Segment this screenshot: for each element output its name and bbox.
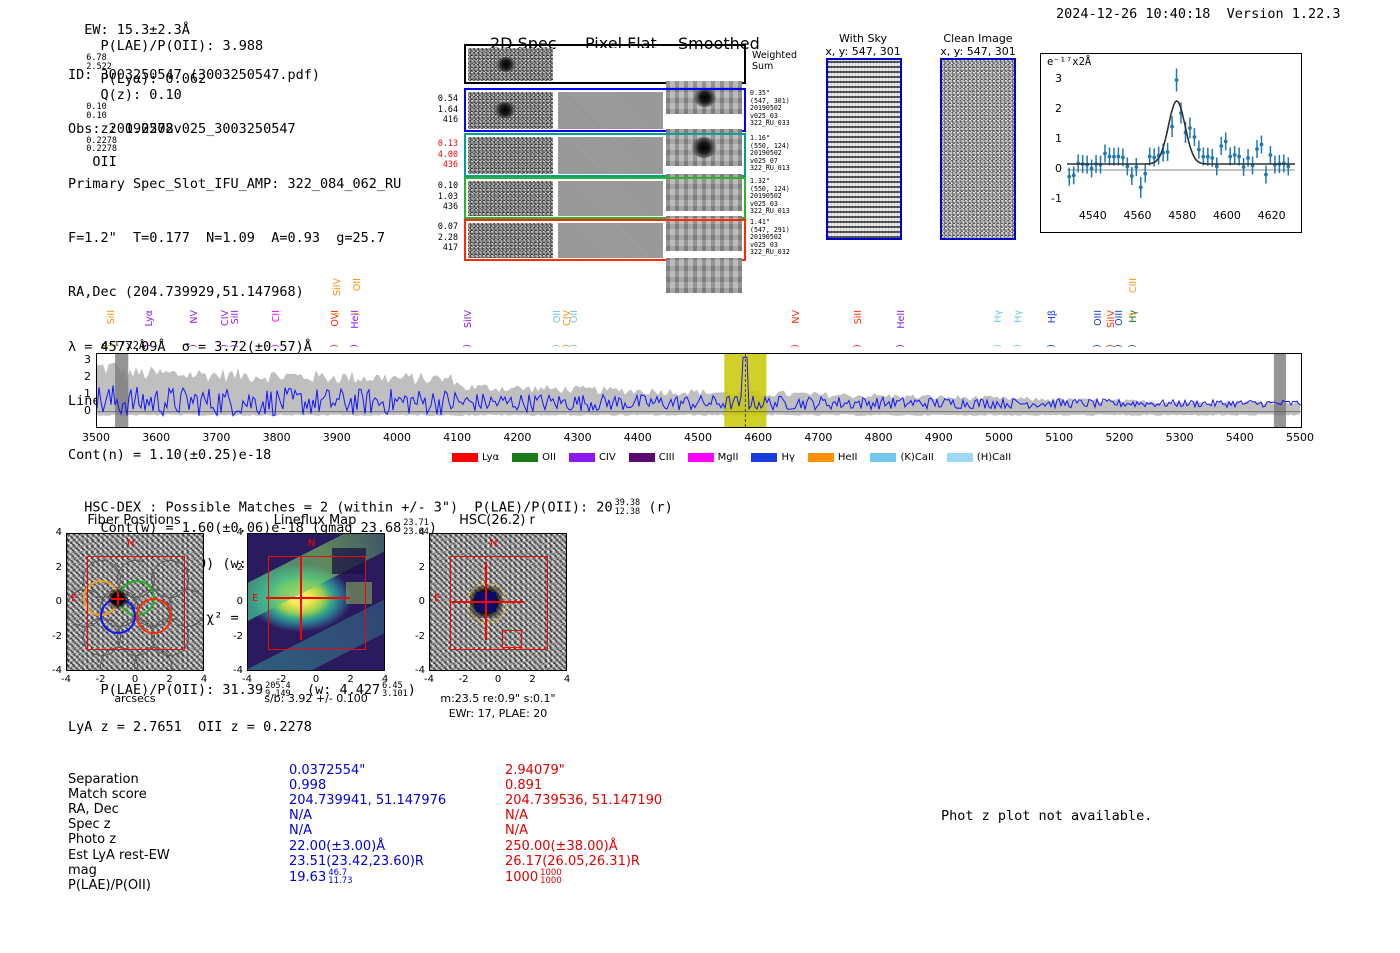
table-cell-red: 26.17(26.05,26.31)R [505, 854, 640, 869]
cutout-xtick: -2 [452, 674, 476, 685]
compass-e: E [434, 593, 440, 604]
cutout-ytick: -4 [409, 665, 425, 676]
legend-label-CIII: CIII [659, 452, 675, 463]
emission-xtick: 4620 [1256, 209, 1288, 222]
legend-swatch-Hγ [751, 453, 777, 462]
legend-label-Hγ: Hγ [781, 452, 794, 463]
spectrum-line-label: OIII [1114, 310, 1125, 326]
legend-item: Hγ [751, 452, 794, 463]
cutout-ytick: 4 [409, 527, 425, 538]
table-row-label: Spec z [68, 817, 111, 832]
table-cell-red: N/A [505, 823, 528, 838]
spectrum-line-brace: ( [1125, 344, 1135, 348]
spectrum-line-label: SiII [853, 310, 864, 324]
emission-ytick: 3 [1048, 72, 1062, 85]
table-row-label: Photo z [68, 832, 116, 847]
cutout-xtick: 2 [521, 674, 545, 685]
spec-row-1 [464, 133, 746, 177]
table-row-label: RA, Dec [68, 802, 119, 817]
spectrum-line-label: HeII [896, 310, 907, 329]
spectrum-xtick: 3500 [70, 431, 122, 444]
cutout-xtick: 0 [304, 674, 328, 685]
plae-blue-frac: 46.711.73 [328, 869, 352, 886]
spectrum-xtick: 4800 [853, 431, 905, 444]
cutout-caption-ewr-plae: EWr: 17, PLAE: 20 [419, 707, 577, 720]
cutout-caption-arcsecs: arcsecs [66, 692, 204, 705]
legend-swatch-MgII [688, 453, 714, 462]
table-cell-blue: 0.998 [289, 778, 326, 793]
clean-image-xy: x, y: 547, 301 [923, 45, 1033, 58]
emission-ytick: 0 [1048, 162, 1062, 175]
spectrum-xtick: 3600 [130, 431, 182, 444]
table-row-label: Separation [68, 772, 139, 787]
spectrum-line-brace: ( [1125, 312, 1135, 316]
cutout-ytick: -2 [409, 631, 425, 642]
info-seeing: F=1.2" T=0.177 N=1.09 A=0.93 g=25.7 [68, 229, 437, 247]
legend-item: OII [512, 452, 556, 463]
spectrum-xtick: 4700 [792, 431, 844, 444]
spectrum-xtick: 5100 [1033, 431, 1085, 444]
compass-n: N [490, 538, 497, 549]
info-id: ID: 3003250547 (3003250547.pdf) [68, 66, 437, 84]
spectrum-line-label: Hγ [1013, 310, 1024, 323]
row-2-pixelflat [558, 181, 663, 216]
table-cell-blue: 0.0372554" [289, 763, 365, 778]
table-cell-red: N/A [505, 808, 528, 823]
compass-n: N [308, 538, 315, 549]
spectrum-ytick: 0 [78, 404, 91, 417]
row-0-pixelflat [558, 92, 663, 129]
spec-row-3 [464, 219, 746, 261]
spectrum-line-label: OIII [1093, 310, 1104, 326]
table-row-label-plae: P(LAE)/P(OII) [68, 878, 151, 893]
spectrum-xtick: 4200 [491, 431, 543, 444]
table-row-label: mag [68, 863, 97, 878]
emission-ytick: -1 [1048, 192, 1062, 205]
info-obs: Obs: 20190502v025_3003250547 [68, 120, 437, 138]
cutout-ytick: 0 [46, 596, 62, 607]
table-cell-red: 2.94079" [505, 763, 565, 778]
legend-label-Lyα: Lyα [482, 452, 499, 463]
spectrum-line-brace: ( [218, 344, 228, 348]
cutout-ytick: 2 [409, 562, 425, 573]
cutout-title-lineflux-map: Lineflux Map [245, 513, 385, 528]
legend-label-(K)CaII: (K)CaII [900, 452, 933, 463]
spectrum-units: e⁻¹⁷x2Å [101, 340, 145, 352]
spectrum-legend: LyαOIICIVCIIIMgIIHγHeII(K)CaII(H)CaII [452, 447, 1024, 466]
weighted-sum-row [464, 44, 746, 84]
row-2-2dspec [468, 181, 553, 216]
emission-line-units: e⁻¹⁷x2Å [1047, 56, 1091, 68]
cutout-xtick: 0 [123, 674, 147, 685]
compass-e: E [252, 593, 258, 604]
fov-box [450, 556, 548, 650]
weighted-sum-pixelflat [558, 48, 663, 81]
spec-row-2 [464, 177, 746, 219]
legend-swatch-(K)CaII [870, 453, 896, 462]
table-cell-blue: 204.739941, 51.147976 [289, 793, 446, 808]
fov-box [87, 556, 185, 650]
spectrum-line-label: CIII [1128, 278, 1139, 293]
spectrum-line-brace: ( [187, 344, 197, 348]
cutout-xtick: 4 [373, 674, 397, 685]
emission-line-svg [1041, 54, 1301, 232]
plae-red-lo: 1000 [540, 877, 562, 886]
spectrum-line-label: SiIV [463, 310, 474, 328]
spectrum-xtick: 3900 [311, 431, 363, 444]
row-1-side-label: 1.16" (550, 124) 20190502 v025_07 322_RU… [750, 135, 790, 173]
table-cell-blue: N/A [289, 823, 312, 838]
emission-line-plot [1040, 53, 1302, 233]
spectrum-line-brace: ( [567, 344, 577, 348]
table-row-label: Match score [68, 787, 147, 802]
table-cell-red-plae: 100010001000 [505, 869, 562, 886]
spectrum-line-label: NV [189, 310, 200, 324]
table-cell-blue: N/A [289, 808, 312, 823]
fiber-positions-image[interactable]: N E [66, 533, 204, 671]
spectrum-xtick: 3700 [190, 431, 242, 444]
spectrum-xtick: 5000 [973, 431, 1025, 444]
with-sky-xy: x, y: 547, 301 [808, 45, 918, 58]
spectrum-xtick: 4000 [371, 431, 423, 444]
weighted-sum-2dspec [468, 48, 553, 81]
cutout-xtick: -2 [270, 674, 294, 685]
emission-xtick: 4540 [1077, 209, 1109, 222]
spectrum-line-brace: ( [269, 344, 279, 348]
emission-xtick: 4600 [1211, 209, 1243, 222]
row-1-numbers: 0.13 4.00 436 [418, 138, 458, 170]
spectrum-line-label: SiII [230, 310, 241, 324]
spectrum-xtick: 4400 [612, 431, 664, 444]
full-spectrum-svg [97, 354, 1301, 427]
spectrum-line-brace: ( [328, 344, 338, 348]
spectrum-line-label: OII [352, 278, 363, 291]
clean-image [940, 58, 1016, 240]
spectrum-line-label: SiIV [332, 278, 343, 296]
legend-label-MgII: MgII [718, 452, 739, 463]
legend-item: CIII [629, 452, 675, 463]
cutout-ytick: 2 [46, 562, 62, 573]
cutout-xtick: 4 [555, 674, 579, 685]
with-sky-image [826, 58, 902, 240]
spectrum-line-brace: ( [550, 344, 560, 348]
legend-item: Lyα [452, 452, 499, 463]
legend-item: MgII [688, 452, 739, 463]
cutout-xtick: -2 [89, 674, 113, 685]
row-3-side-label: 1.41" (547, 291) 20190502 v025_03 322_RU… [750, 219, 790, 257]
row-0-numbers: 0.54 1.64 416 [418, 93, 458, 125]
lineflux-map-image[interactable]: N E [247, 533, 385, 671]
table-cell-blue-plae: 19.6346.711.73 [289, 869, 353, 886]
row-0-2dspec [468, 92, 553, 129]
spectrum-xtick: 5500 [1274, 431, 1326, 444]
emission-ytick: 1 [1048, 132, 1062, 145]
info-plae-post: ) [408, 682, 416, 698]
plae-red-frac: 10001000 [540, 869, 562, 886]
cutout-title-fiber-positions: Fiber Positions [64, 513, 204, 528]
cutout-caption-sb: s/b: 3.92 +/- 0.100 [237, 692, 395, 705]
info-redshift: LyA z = 2.7651 OII z = 0.2278 [68, 718, 437, 736]
emission-ytick: 2 [1048, 102, 1062, 115]
spectrum-line-brace: ( [1045, 344, 1055, 348]
spectrum-xtick: 4900 [913, 431, 965, 444]
spectrum-xtick: 4500 [672, 431, 724, 444]
spectrum-ytick: 1 [78, 387, 91, 400]
legend-label-CIV: CIV [599, 452, 616, 463]
legend-label-OII: OII [542, 452, 556, 463]
spec-row-0 [464, 88, 746, 132]
cutout-caption-hsc: m:23.5 re:0.9" s:0.1" [419, 692, 577, 705]
clean-image-title: Clean Image [928, 32, 1028, 45]
cutout-ytick: 4 [46, 527, 62, 538]
row-2-numbers: 0.10 1.03 436 [418, 180, 458, 212]
spectrum-line-label: CII [271, 310, 282, 322]
spectrum-line-label: SiII [106, 310, 117, 324]
legend-item: (H)CaII [947, 452, 1011, 463]
legend-swatch-CIV [569, 453, 595, 462]
info-radec: RA,Dec (204.739929,51.147968) [68, 283, 437, 301]
table-cell-blue: 23.51(23.42,23.60)R [289, 854, 424, 869]
spectrum-line-label: Hβ [1047, 310, 1058, 323]
row-0-side-label: 0.35" (547, 301) 20190502 v025_03 322_RU… [750, 90, 790, 128]
spectrum-xtick: 4600 [732, 431, 784, 444]
spectrum-line-brace: ( [894, 344, 904, 348]
fov-box [268, 556, 366, 650]
cutout-ytick: 4 [227, 527, 243, 538]
cutout-title-hsc-r: HSC(26.2) r [427, 513, 567, 528]
spectrum-line-label: OII [569, 310, 580, 323]
legend-swatch-HeII [808, 453, 834, 462]
cutout-ytick: 2 [227, 562, 243, 573]
legend-item: (K)CaII [870, 452, 933, 463]
spectrum-xtick: 5200 [1093, 431, 1145, 444]
spectrum-xtick: 3800 [251, 431, 303, 444]
row-1-pixelflat [558, 137, 663, 174]
legend-swatch-OII [512, 453, 538, 462]
spectrum-line-brace: ( [991, 344, 1001, 348]
info-spec-slot: Primary Spec_Slot_IFU_AMP: 322_084_062_R… [68, 175, 437, 193]
plae-blue-lo: 11.73 [328, 877, 352, 886]
spectrum-xtick: 4100 [431, 431, 483, 444]
weighted-sum-label: Weighted Sum [752, 50, 797, 72]
cutout-ytick: -2 [46, 631, 62, 642]
spectrum-line-brace: ( [330, 312, 340, 316]
cutout-ytick: -4 [227, 665, 243, 676]
photz-message: Phot z plot not available. [941, 808, 1152, 824]
secondary-match-box [502, 630, 522, 648]
table-cell-red: 250.00(±38.00)Å [505, 839, 618, 854]
emission-xtick: 4580 [1166, 209, 1198, 222]
spectrum-ytick: 2 [78, 370, 91, 383]
spectrum-line-brace: ( [350, 312, 360, 316]
cutout-ytick: -2 [227, 631, 243, 642]
spectrum-line-brace: ( [461, 344, 471, 348]
timestamp-version: 2024-12-26 10:40:18 Version 1.22.3 [1056, 6, 1340, 22]
legend-swatch-(H)CaII [947, 453, 973, 462]
plae-blue-value: 19.63 [289, 870, 326, 885]
legend-item: HeII [808, 452, 858, 463]
info-cont-n: Cont(n) = 1.10(±0.25)e-18 [68, 446, 437, 464]
legend-swatch-Lyα [452, 453, 478, 462]
cutout-ytick: 0 [227, 596, 243, 607]
hscdex-lo: 12.38 [615, 508, 641, 517]
spectrum-xtick: 5300 [1154, 431, 1206, 444]
row-3-numbers: 0.07 2.28 417 [418, 221, 458, 253]
row-3-2dspec [468, 223, 553, 258]
row-2-side-label: 1.32" (550, 124) 20190502 v025_03 322_RU… [750, 178, 790, 216]
spectrum-line-brace: ( [789, 344, 799, 348]
spectrum-line-brace: ( [1112, 344, 1122, 348]
spectrum-xtick: 5400 [1214, 431, 1266, 444]
spectrum-ytick: 3 [78, 353, 91, 366]
legend-label-(H)CaII: (H)CaII [977, 452, 1011, 463]
cutout-xtick: 2 [158, 674, 182, 685]
spectrum-line-label: Hγ [993, 310, 1004, 323]
emission-xtick: 4560 [1122, 209, 1154, 222]
spectrum-line-brace: ( [348, 344, 358, 348]
legend-swatch-CIII [629, 453, 655, 462]
row-3-pixelflat [558, 223, 663, 258]
cutout-ytick: -4 [46, 665, 62, 676]
legend-item: CIV [569, 452, 616, 463]
compass-n: N [127, 538, 134, 549]
cutout-ytick: 0 [409, 596, 425, 607]
full-spectrum-plot [96, 353, 1302, 428]
hscdex-post: (r) [648, 500, 672, 516]
cutout-xtick: 2 [339, 674, 363, 685]
hscdex-summary: HSC-DEX : Possible Matches = 2 (within +… [68, 483, 673, 516]
row-1-2dspec [468, 137, 553, 174]
hsc-r-image[interactable]: N E [429, 533, 567, 671]
spectrum-line-brace: ( [228, 344, 238, 348]
spectrum-line-label: Lyα [144, 310, 155, 326]
cutout-xtick: 4 [192, 674, 216, 685]
spectrum-line-label: NV [791, 310, 802, 324]
spectrum-line-brace: ( [851, 344, 861, 348]
compass-e: E [71, 593, 77, 604]
spectrum-xtick: 4300 [552, 431, 604, 444]
legend-label-HeII: HeII [838, 452, 858, 463]
table-cell-blue: 22.00(±3.00)Å [289, 839, 385, 854]
table-cell-red: 0.891 [505, 778, 542, 793]
spectrum-line-brace: ( [1091, 344, 1101, 348]
spectrum-line-brace: ( [1011, 344, 1021, 348]
plae-red-value: 1000 [505, 870, 538, 885]
row-3-smoothed [666, 258, 742, 293]
table-row-label: Est LyA rest-EW [68, 848, 170, 863]
table-cell-red: 204.739536, 51.147190 [505, 793, 662, 808]
with-sky-title: With Sky [818, 32, 908, 45]
cutout-xtick: 0 [486, 674, 510, 685]
